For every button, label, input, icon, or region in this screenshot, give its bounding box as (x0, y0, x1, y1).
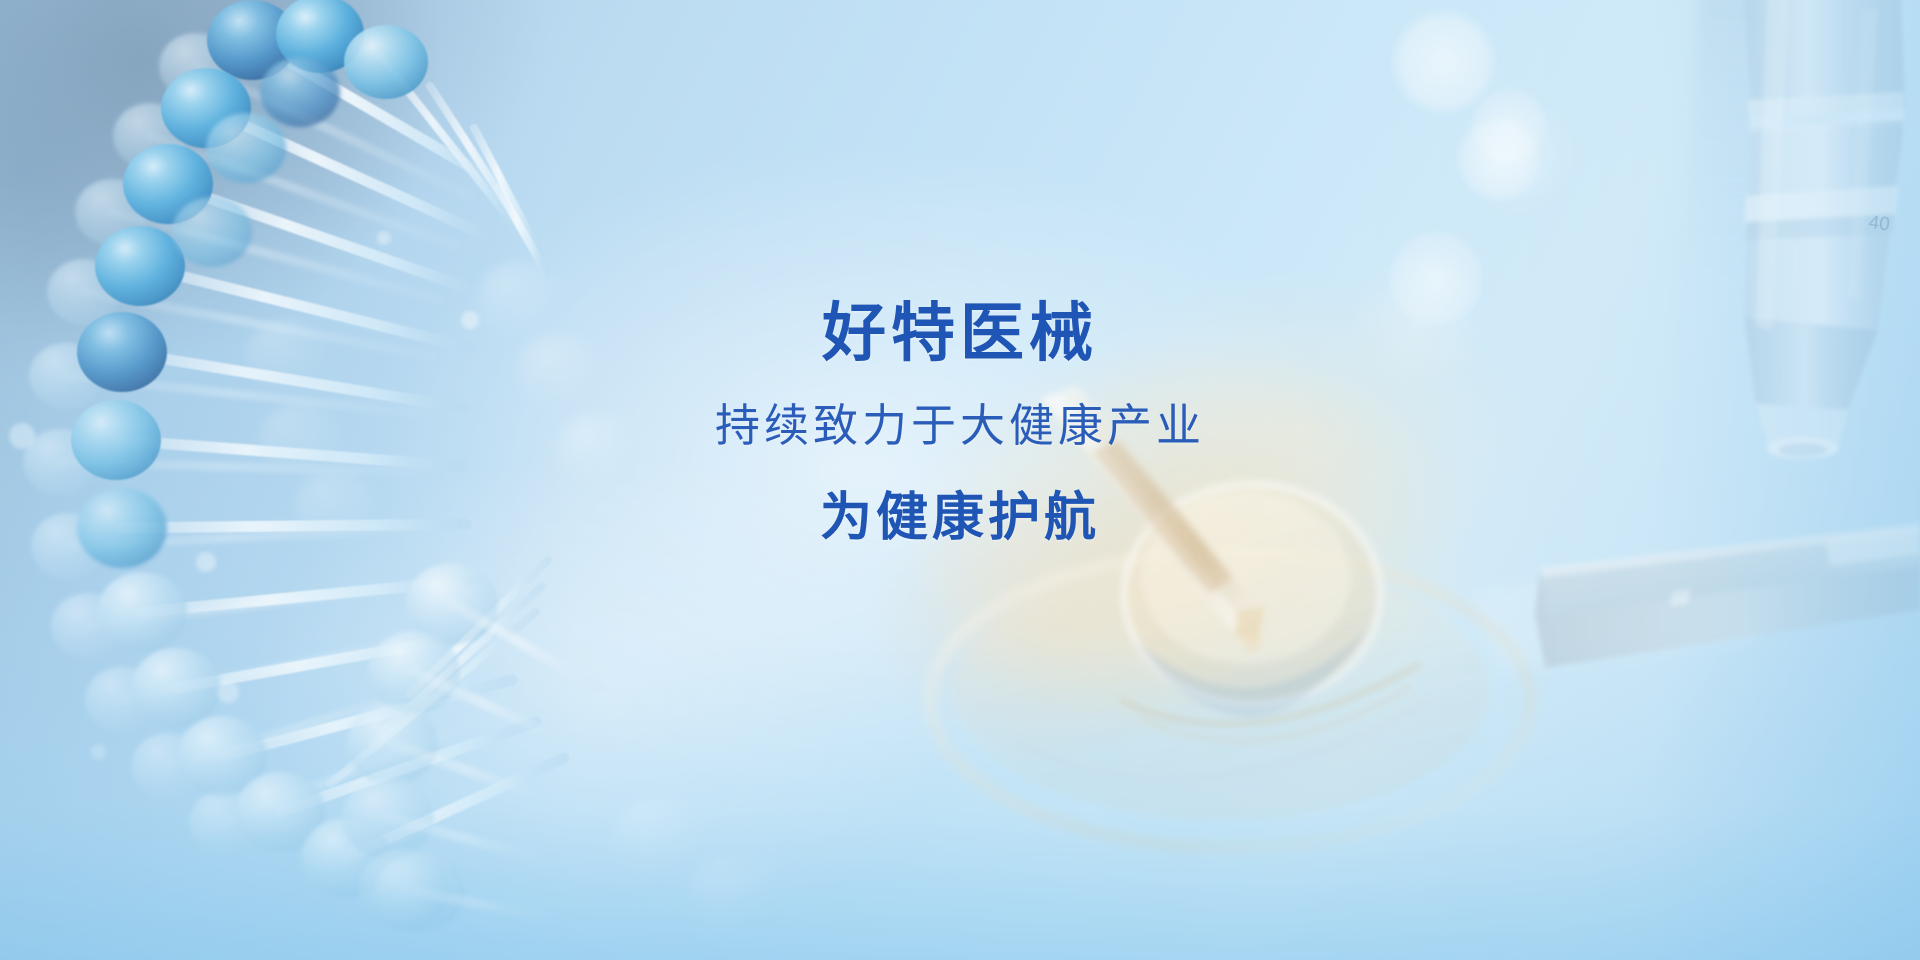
microscope-magnification-label: 40 (1867, 212, 1891, 235)
company-title: 好特医械 (0, 300, 1920, 367)
banner-text-block: 好特医械 持续致力于大健康产业 为健康护航 (0, 300, 1920, 546)
tagline-primary: 持续致力于大健康产业 (0, 401, 1920, 451)
hero-banner: 40 (0, 0, 1920, 960)
tagline-secondary: 为健康护航 (0, 490, 1920, 546)
